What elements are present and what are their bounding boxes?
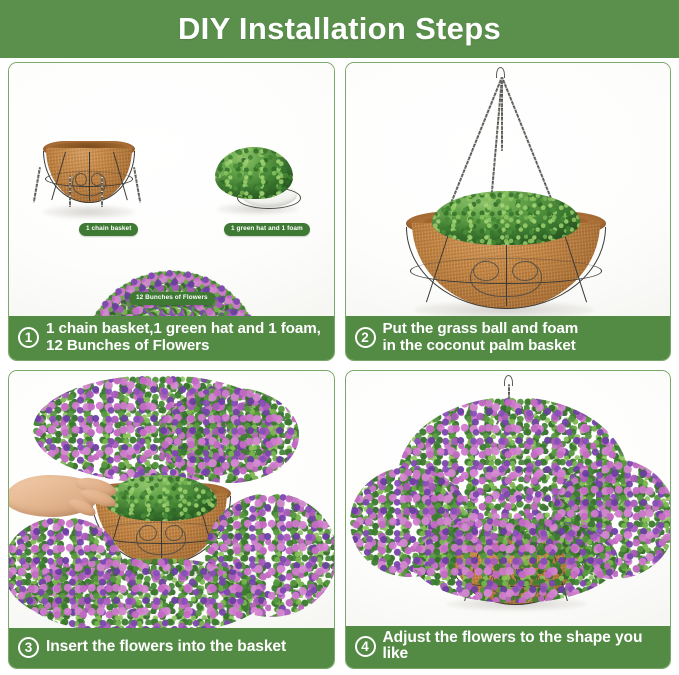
purple-flower-bunch-upper-right — [159, 387, 299, 483]
step-panel-4: 4 Adjust the flowers to the shape you li… — [345, 370, 672, 669]
step-number-badge: 3 — [18, 637, 39, 658]
green-grass-ball — [432, 191, 580, 245]
step-1-caption-text: 1 chain basket,1 green hat and 1 foam, 1… — [46, 321, 321, 354]
step-4-photo — [346, 371, 671, 626]
step-panel-1: 1 chain basket 1 green hat and 1 foam — [8, 62, 335, 361]
step-3-photo — [9, 371, 334, 628]
finished-flower-arrangement-core — [398, 397, 628, 557]
step-1-caption-bar: 1 1 chain basket,1 green hat and 1 foam,… — [9, 316, 334, 360]
step-3-caption-text: Insert the flowers into the basket — [46, 639, 286, 656]
diy-instruction-infographic: DIY Installation Steps — [0, 0, 679, 675]
label-chain-basket: 1 chain basket — [79, 223, 138, 236]
basket-chain — [101, 175, 103, 207]
basket-scroll-ornament — [136, 521, 186, 555]
green-grass-hat — [215, 147, 293, 199]
page-title: DIY Installation Steps — [178, 11, 501, 47]
basket-shadow — [43, 205, 135, 219]
step-number-badge: 2 — [355, 327, 376, 348]
step-number-badge: 1 — [18, 327, 39, 348]
basket-scroll-ornament — [490, 568, 540, 597]
step-panel-2: 2 Put the grass ball and foam in the coc… — [345, 62, 672, 361]
step-2-photo — [346, 63, 671, 316]
basket-chain — [33, 167, 41, 203]
green-grass-ball — [105, 475, 217, 521]
steps-grid: 1 chain basket 1 green hat and 1 foam — [8, 62, 671, 669]
step-number-badge: 4 — [355, 636, 376, 657]
basket-shadow — [99, 563, 249, 579]
basket-chain — [69, 175, 71, 207]
step-2-caption-text: Put the grass ball and foam in the cocon… — [383, 321, 579, 354]
step-3-caption-bar: 3 Insert the flowers into the basket — [9, 628, 334, 668]
step-1-photo: 1 chain basket 1 green hat and 1 foam — [9, 63, 334, 316]
coconut-palm-basket — [446, 537, 586, 605]
basket-scroll-ornament — [470, 256, 542, 297]
step-panel-3: 3 Insert the flowers into the basket — [8, 370, 335, 669]
step-2-caption-bar: 2 Put the grass ball and foam in the coc… — [346, 316, 671, 360]
hanging-chain — [508, 397, 524, 429]
header-banner: DIY Installation Steps — [0, 0, 679, 58]
label-green-hat-foam: 1 green hat and 1 foam — [224, 223, 310, 236]
coconut-palm-chain-basket — [43, 141, 135, 203]
step-4-caption-text: Adjust the flowers to the shape you like — [383, 630, 664, 663]
label-twelve-bunches: 12 Bunches of Flowers — [129, 292, 215, 305]
purple-flower-bunch-upper — [33, 375, 283, 483]
step-4-caption-bar: 4 Adjust the flowers to the shape you li… — [346, 626, 671, 668]
